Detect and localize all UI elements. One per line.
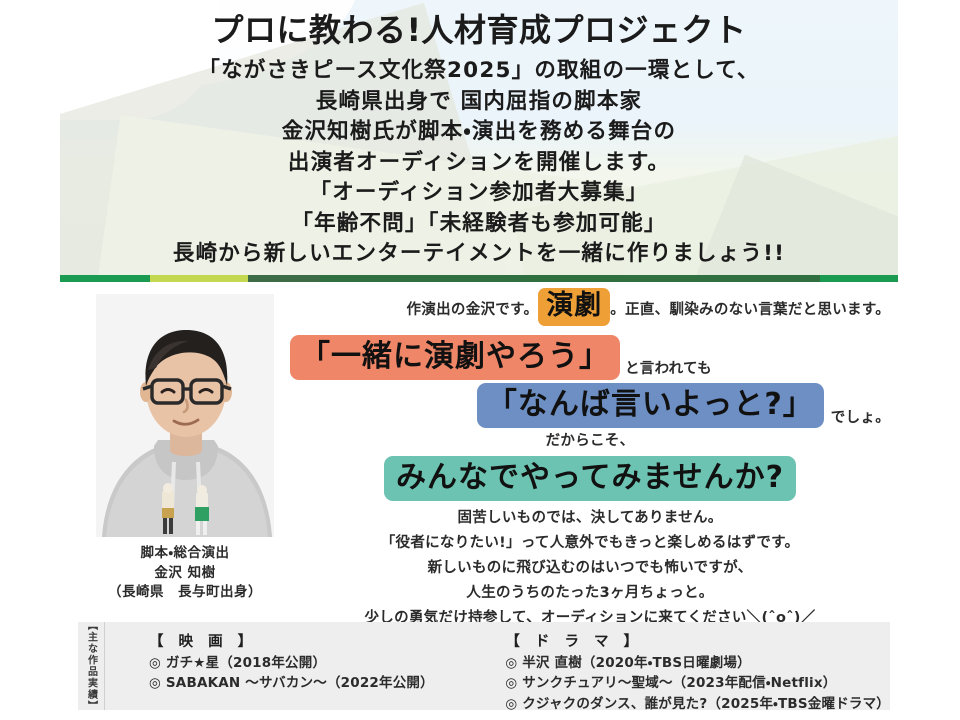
credits-tab-label: 【主な作品実績】: [84, 620, 99, 712]
body-line: 固苦しいものでは、決してありません。: [290, 506, 890, 531]
poster-title: プロに教わる!人材育成プロジェクト: [60, 10, 898, 50]
body-line: 「役者になりたい!」って人意外でもきっと楽しめるはずです。: [290, 531, 890, 556]
message-line-nanba: 「なんば言いよっと?」 でしょ。: [290, 382, 890, 428]
message-line-dakarakoso: だからこそ、: [290, 432, 890, 456]
credits-heading-drama: 【 ド ラ マ 】: [505, 630, 890, 651]
message-line-minna: みんなでやってみませんか?: [290, 456, 890, 504]
lead-line: 出演者オーディションを開催します。: [60, 148, 898, 179]
header-banner: プロに教わる!人材育成プロジェクト 「ながさきピース文化祭2025」の取組の一環…: [60, 0, 898, 280]
lead-line: 「オーディション参加者大募集」: [60, 178, 898, 209]
message-after-together: と言われても: [625, 362, 712, 381]
bar-segment: [60, 275, 150, 282]
profile-caption: 脚本・総合演出 金沢 知樹 （長崎県 長与町出身）: [96, 544, 274, 603]
lead-line: 「年齢不問」「未経験者も参加可能」: [60, 209, 898, 240]
message-after-engeki: 。正直、馴染みのない言葉だと思います。: [610, 303, 890, 318]
body-line: 新しいものに飛び込むのはいつでも怖いですが、: [290, 556, 890, 581]
header-text-block: プロに教わる!人材育成プロジェクト 「ながさきピース文化祭2025」の取組の一環…: [60, 0, 898, 270]
bar-segment: [320, 275, 820, 282]
credits-heading-film: 【 映 画 】: [149, 630, 491, 651]
bar-segment: [820, 275, 898, 282]
lead-line: 長崎県出身で 国内屈指の脚本家: [60, 87, 898, 118]
credits-item: ◎ ガチ★星（2018年公開）: [149, 653, 491, 673]
highlight-minna-de-yatte-mimasenka: みんなでやってみませんか?: [384, 456, 796, 501]
lead-line: 長崎から新しいエンターテイメントを一緒に作りましょう!!: [60, 239, 898, 270]
bar-segment: [150, 275, 248, 282]
lead-line: 「ながさきピース文化祭2025」の取組の一環として、: [60, 56, 898, 87]
profile-origin: （長崎県 長与町出身）: [96, 583, 274, 603]
credits-box: 【主な作品実績】 【 映 画 】 ◎ ガチ★星（2018年公開） ◎ SABAK…: [78, 622, 890, 710]
message-line-intro: 作演出の金沢です。 演劇 。正直、馴染みのない言葉だと思います。: [290, 288, 890, 330]
profile-photo-block: 脚本・総合演出 金沢 知樹 （長崎県 長与町出身）: [96, 294, 274, 603]
profile-name: 金沢 知樹: [96, 564, 274, 584]
highlight-nanba-iiyotto: 「なんば言いよっと?」: [477, 383, 824, 428]
body-line: 人生のうちのたった3ヶ月ちょっと。: [290, 581, 890, 606]
credits-item: ◎ サンクチュアリ～聖域～（2023年配信・Netflix）: [505, 673, 890, 693]
green-divider-bar: [60, 275, 898, 282]
lead-line: 金沢知樹氏が脚本・演出を務める舞台の: [60, 117, 898, 148]
header-lead-text: 「ながさきピース文化祭2025」の取組の一環として、 長崎県出身で 国内屈指の脚…: [60, 56, 898, 270]
highlight-issho-ni-engeki-yarou: 「一緒に演劇やろう」: [290, 335, 620, 380]
credits-column-drama: 【 ド ラ マ 】 ◎ 半沢 直樹（2020年・TBS日曜劇場） ◎ サンクチュ…: [491, 630, 890, 710]
message-intro-text: 作演出の金沢です。: [407, 303, 539, 318]
credits-item: ◎ SABAKAN ～サバカン～（2022年公開）: [149, 673, 491, 693]
credits-columns: 【 映 画 】 ◎ ガチ★星（2018年公開） ◎ SABAKAN ～サバカン～…: [105, 622, 890, 710]
credits-vertical-tab: 【主な作品実績】: [78, 622, 105, 710]
credits-column-film: 【 映 画 】 ◎ ガチ★星（2018年公開） ◎ SABAKAN ～サバカン～…: [105, 630, 491, 710]
profile-photo: [96, 294, 274, 537]
credits-item: ◎ 半沢 直樹（2020年・TBS日曜劇場）: [505, 653, 890, 673]
message-line-together: 「一緒に演劇やろう」 と言われても: [290, 334, 890, 380]
message-body: 作演出の金沢です。 演劇 。正直、馴染みのない言葉だと思います。 「一緒に演劇や…: [290, 288, 890, 656]
credits-item: ◎ クジャクのダンス、誰が見た?（2025年・TBS金曜ドラマ）: [505, 694, 890, 714]
highlight-engeki: 演劇: [538, 288, 610, 326]
message-after-nanba: でしょ。: [831, 411, 890, 429]
bar-segment: [248, 275, 320, 282]
message-dakarakoso: だからこそ、: [546, 433, 635, 449]
profile-role: 脚本・総合演出: [96, 544, 274, 564]
message-section: 脚本・総合演出 金沢 知樹 （長崎県 長与町出身） 作演出の金沢です。 演劇 。…: [0, 288, 960, 618]
